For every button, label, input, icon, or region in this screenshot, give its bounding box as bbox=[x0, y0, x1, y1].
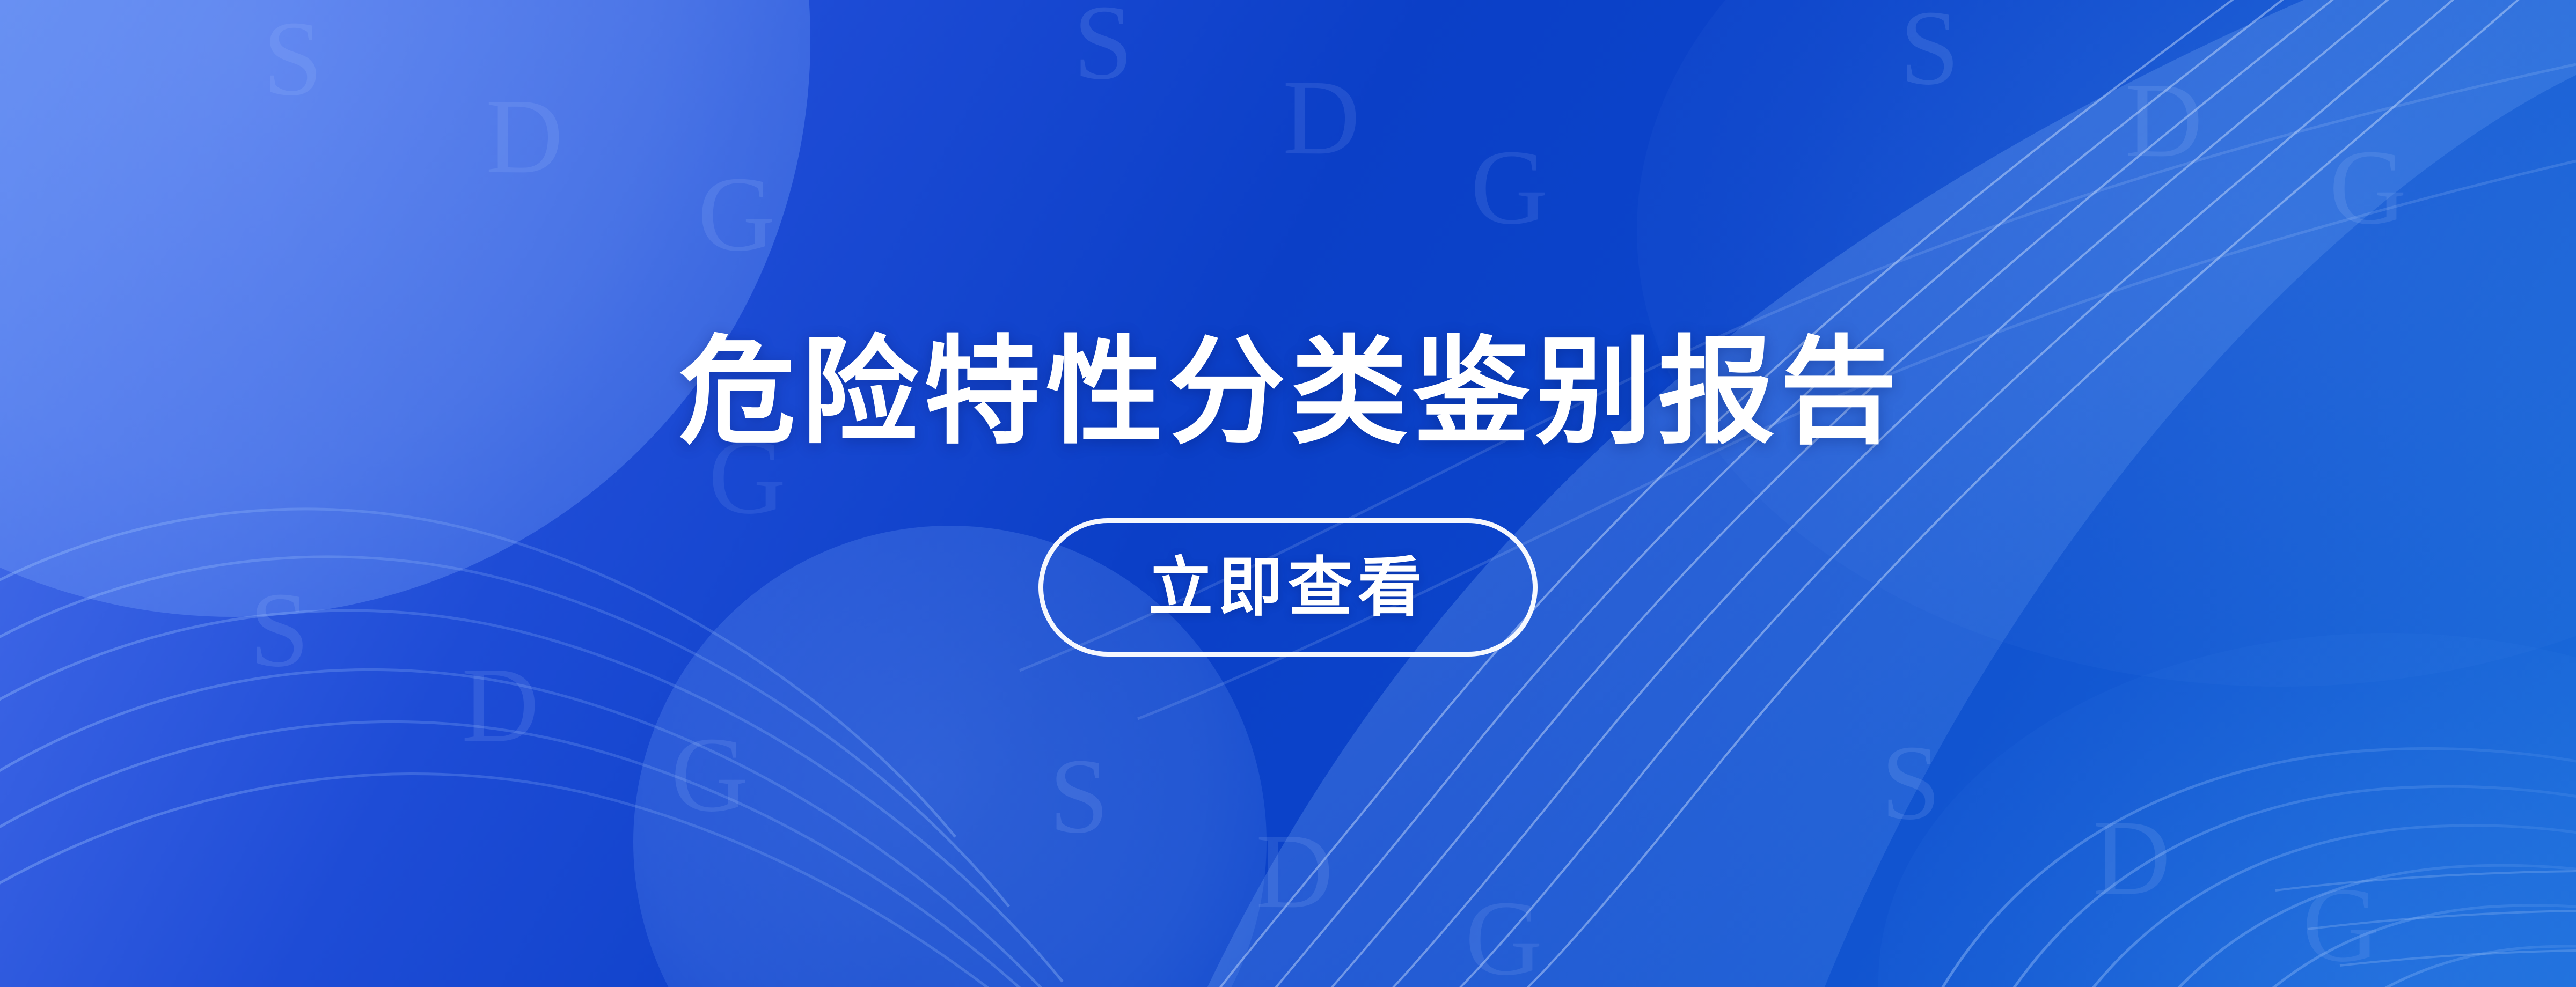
banner-content: 危险特性分类鉴别报告 立即查看 bbox=[0, 0, 2576, 987]
view-now-button[interactable]: 立即查看 bbox=[1038, 518, 1538, 657]
page-title: 危险特性分类鉴别报告 bbox=[679, 330, 1902, 454]
promo-banner: SDGSDGSDGSDGSDGSDGG 危险特性分类鉴别报告 立即查看 bbox=[0, 0, 2576, 987]
view-now-button-label: 立即查看 bbox=[1148, 555, 1428, 620]
